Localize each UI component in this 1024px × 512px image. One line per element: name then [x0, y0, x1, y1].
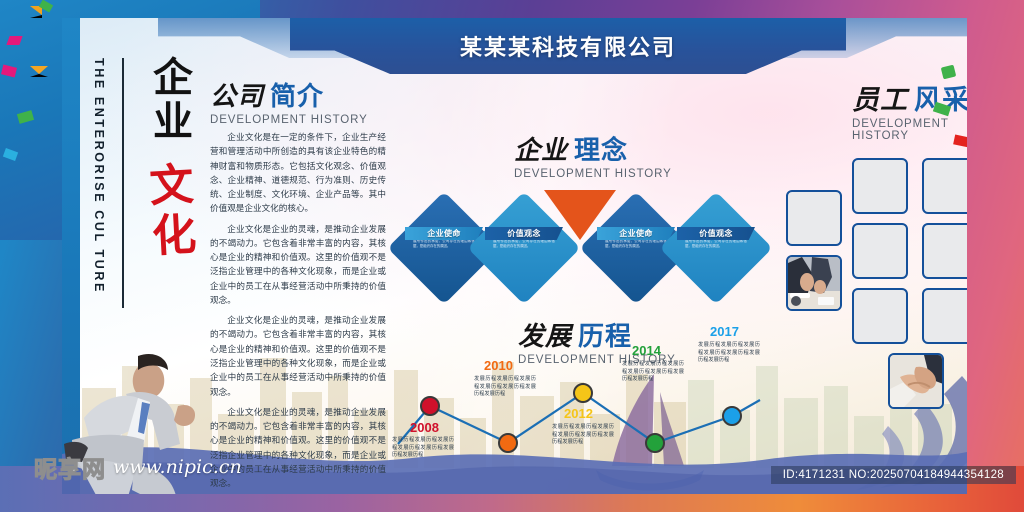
timeline-desc-2012: 发展历程发展历程发展历程发展历程发展历程发展历程发展历程	[552, 424, 614, 447]
timeline-node-2012[interactable]	[573, 383, 593, 403]
vertical-title-cn-top: 企业	[134, 56, 198, 144]
vertical-title-rule	[122, 58, 124, 308]
left-vertical-title: THE ENTERORISE CUL TURE 企业 文化	[88, 52, 208, 312]
company-title-cn-blue: 简介	[270, 81, 324, 111]
staff-photo-slot-handshake[interactable]	[888, 353, 944, 409]
staff-photo-slot[interactable]	[786, 190, 842, 246]
image-id-bar: ID:4171231 NO:20250704184944354128	[771, 466, 1016, 484]
confetti-triangle	[30, 66, 48, 77]
staff-photo-slot-meeting[interactable]	[786, 255, 842, 311]
timeline-year-2017: 2017	[710, 324, 739, 339]
staff-title-cn-dark: 员工	[852, 85, 908, 116]
idea-title-cn-dark: 企业	[514, 136, 568, 166]
handshake-photo-image	[890, 355, 944, 409]
timeline-desc-2014: 发展历程发展历程发展历程发展历程发展历程发展历程发展历程	[622, 361, 684, 384]
company-title-en: DEVELOPMENT HISTORY	[210, 114, 368, 126]
watermark-logo-text: 昵享网	[34, 450, 106, 484]
timeline-year-2008: 2008	[410, 420, 439, 435]
company-title-cn-dark: 公司	[210, 82, 264, 112]
poster-canvas: THE ENTERORISE CUL TURE 企业 文化 公司简介 DEVEL…	[0, 0, 1024, 512]
intro-paragraph: 企业文化是企业的灵魂，是推动企业发展的不竭动力。它包含着非常丰富的内容，其核心是…	[210, 313, 386, 399]
timeline-node-2008[interactable]	[420, 396, 440, 416]
timeline-year-2014: 2014	[632, 343, 661, 358]
idea-title-cn-blue: 理念	[574, 135, 628, 165]
company-intro-copy: 企业文化是在一定的条件下，企业生产经营和管理活动中所创造的具有该企业特色的精神财…	[210, 130, 386, 494]
idea-title-en: DEVELOPMENT HISTORY	[514, 168, 672, 180]
timeline-year-2012: 2012	[564, 406, 593, 421]
staff-title-en: DEVELOPMENT HISTORY	[852, 118, 967, 142]
watermark-url: www.nipic.cn	[113, 456, 242, 478]
section-title-idea: 企业理念 DEVELOPMENT HISTORY	[514, 130, 672, 180]
timeline-year-2010: 2010	[484, 358, 513, 373]
timeline-desc-2010: 发展历程发展历程发展历程发展历程发展历程发展历程发展历程	[474, 376, 536, 399]
diamond-card[interactable]: 使命（官方目标）：是指对自身和社会发展所作出的承诺，公司存在的理由和依据，是组织…	[467, 191, 580, 304]
company-name-title: 某某某科技有限公司	[460, 30, 676, 62]
vertical-title-english: THE ENTERORISE CUL TURE	[92, 58, 106, 308]
staff-photo-slot[interactable]	[852, 158, 908, 214]
history-timeline-chart: 2008 发展历程发展历程发展历程发展历程发展历程发展历程发展历程 2010 发…	[392, 338, 762, 488]
diamond-label: 企业使命	[405, 227, 483, 240]
staff-photo-slot[interactable]	[922, 158, 967, 214]
timeline-node-2014[interactable]	[645, 433, 665, 453]
watermark: 昵享网 www.nipic.cn	[34, 450, 242, 484]
timeline-desc-2008: 发展历程发展历程发展历程发展历程发展历程发展历程发展历程	[392, 437, 454, 460]
timeline-node-2010[interactable]	[498, 433, 518, 453]
meeting-photo-image	[788, 257, 842, 311]
main-panel: THE ENTERORISE CUL TURE 企业 文化 公司简介 DEVEL…	[62, 18, 967, 494]
staff-photo-slot[interactable]	[922, 288, 967, 344]
vertical-title-cn-bottom: 文化	[129, 160, 202, 263]
intro-paragraph: 企业文化是企业的灵魂，是推动企业发展的不竭动力。它包含着非常丰富的内容，其核心是…	[210, 222, 386, 308]
timeline-desc-2017: 发展历程发展历程发展历程发展历程发展历程发展历程发展历程	[698, 342, 760, 365]
diamond-label: 企业使命	[597, 227, 675, 240]
staff-photo-grid	[786, 158, 967, 388]
timeline-node-2017[interactable]	[722, 406, 742, 426]
idea-diamond-row: 使命（官方目标）：是指对自身和社会发展所作出的承诺，公司存在的理由和依据，是组织…	[398, 190, 758, 310]
section-title-company: 公司简介 DEVELOPMENT HISTORY	[210, 76, 368, 126]
diamond-card[interactable]: 使命（官方目标）：是指对自身和社会发展所作出的承诺，公司存在的理由和依据，是组织…	[659, 191, 772, 304]
staff-photo-slot[interactable]	[852, 288, 908, 344]
diamond-label: 价值观念	[677, 227, 755, 240]
header-banner: 某某某科技有限公司	[290, 18, 846, 74]
staff-photo-slot[interactable]	[852, 223, 908, 279]
diamond-label: 价值观念	[485, 227, 563, 240]
staff-photo-slot[interactable]	[922, 223, 967, 279]
intro-paragraph: 企业文化是在一定的条件下，企业生产经营和管理活动中所创造的具有该企业特色的精神财…	[210, 130, 386, 216]
